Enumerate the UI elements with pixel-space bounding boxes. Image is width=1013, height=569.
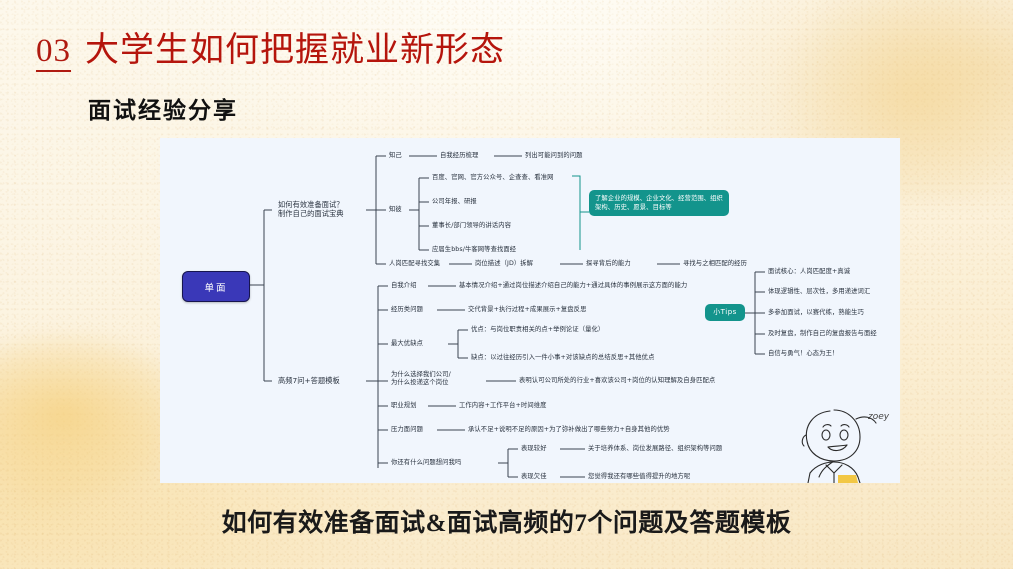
node-q3-label: 最大优缺点 (391, 340, 423, 348)
node-q1-label: 自我介绍 (391, 282, 417, 290)
company-research-summary-box: 了解企业的规模、企业文化、经营范围、组织架构、历史、愿景、目标等 (589, 190, 729, 216)
node-prepare-label-line1: 如何有效准备面试？ (278, 200, 344, 209)
node-questions-label: 高频7问+答题模板 (278, 376, 340, 385)
slide-subtitle: 面试经验分享 (88, 91, 238, 125)
node-prepare-label: 如何有效准备面试？ 制作自己的面试宝典 (278, 200, 383, 218)
node-q1-answer: 基本情况介绍+通过岗位描述介绍自己的能力+通过具体的事例展示这方面的能力 (459, 282, 687, 290)
node-q7-sub-2-label: 表现欠佳 (521, 473, 547, 481)
node-job-match-step-3: 寻找与之相匹配的经历 (683, 260, 747, 268)
node-job-match-step-1: 岗位描述（JD）拆解 (475, 260, 533, 268)
node-q7-sub-2-answer: 您觉得我还有哪些值得提升的地方呢 (588, 473, 690, 481)
node-know-other-item-4: 应届生bbs/牛客网等查找面经 (432, 246, 516, 254)
cartoon-doodle: zoey (798, 405, 890, 483)
node-know-other-item-3: 董事长/部门领导的讲话内容 (432, 222, 511, 230)
node-q4-label-line1: 为什么选择我们公司/ (391, 371, 451, 378)
tips-item-3: 多参加面试，以赛代练，熟能生巧 (768, 309, 864, 317)
section-number: 03 (36, 34, 71, 72)
node-q4-label-line2: 为什么投递这个岗位 (391, 379, 449, 386)
node-know-self-step-1: 自我经历梳理 (440, 152, 478, 160)
node-know-other: 知彼 (389, 206, 402, 214)
node-q2-answer: 交代背景+执行过程+成果展示+复盘反思 (468, 306, 586, 314)
page-title: 大学生如何把握就业新形态 (85, 22, 505, 71)
doodle-signature: zoey (867, 412, 890, 422)
node-know-other-item-1: 百度、官网、官方公众号、企查查、看准网 (432, 174, 554, 182)
mindmap-root-node[interactable]: 单面 (182, 271, 250, 302)
node-job-match-step-2: 探寻背后的能力 (586, 260, 631, 268)
tips-node[interactable]: 小Tips (705, 304, 745, 321)
tips-item-1: 面试核心：人岗匹配度+真诚 (768, 268, 850, 276)
mindmap-panel: 单面 如何有效准备面试？ 制作自己的面试宝典 知己 自我经历梳理 列出可能问到的… (160, 138, 900, 483)
node-q7-label: 你还有什么问题想问我吗 (391, 459, 461, 467)
tips-item-5: 自信与勇气！心态为王！ (768, 350, 838, 358)
node-q5-label: 职业规划 (391, 402, 417, 410)
node-q3-sub-2: 缺点：以过往经历引入一件小事+对该缺点的总结反思+其他优点 (471, 354, 654, 362)
node-q3-sub-1: 优点：与岗位职责相关的点+举例论证（量化） (471, 326, 604, 334)
tips-item-4: 及时复盘，制作自己的复盘报告与面经 (768, 330, 877, 338)
node-q2-label: 经历类问题 (391, 306, 423, 314)
node-q4-label: 为什么选择我们公司/ 为什么投递这个岗位 (391, 371, 491, 387)
slide-title-row: 03 大学生如何把握就业新形态 (36, 22, 505, 72)
tips-item-2: 体现逻辑性、层次性，多用递进词汇 (768, 288, 870, 296)
node-q6-answer: 承认不足+说明不足的原因+为了弥补做出了哪些努力+自身其他的优势 (468, 426, 670, 434)
node-know-self-step-2: 列出可能问到的问题 (525, 152, 583, 160)
slide-caption: 如何有效准备面试&面试高频的7个问题及答题模板 (0, 503, 1013, 539)
node-job-match: 人岗匹配寻找交集 (389, 260, 440, 268)
node-prepare-label-line2: 制作自己的面试宝典 (278, 209, 344, 218)
node-q5-answer: 工作内容+工作平台+时间维度 (459, 402, 547, 410)
node-q6-label: 压力面问题 (391, 426, 423, 434)
node-know-other-item-2: 公司年报、研报 (432, 198, 477, 206)
node-q7-sub-1-label: 表现较好 (521, 445, 547, 453)
node-know-self: 知己 (389, 152, 402, 160)
node-q7-sub-1-answer: 关于培养体系、岗位发展路径、组织架构等问题 (588, 445, 722, 453)
node-q4-answer: 表明认可公司所处的行业+喜欢该公司+岗位的认知理解及自身匹配点 (519, 377, 715, 385)
